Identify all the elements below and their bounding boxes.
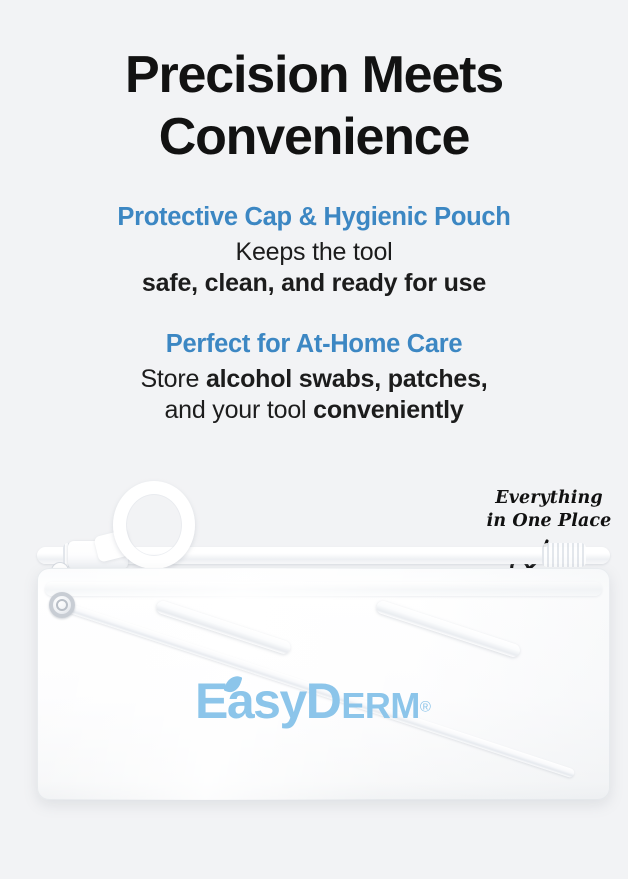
headline-line-2: Convenience bbox=[0, 106, 628, 168]
feature-body: Store alcohol swabs, patches, and your t… bbox=[0, 364, 628, 426]
callout-line-2: in One Place bbox=[474, 510, 624, 533]
feature-block-protective-cap: Protective Cap & Hygienic Pouch Keeps th… bbox=[0, 200, 628, 299]
callout-line-1: Everything bbox=[474, 487, 624, 510]
feature-body-bold-text: alcohol swabs, patches, bbox=[206, 365, 488, 393]
feature-body-light-text: and your tool bbox=[164, 396, 313, 424]
feature-title: Protective Cap & Hygienic Pouch bbox=[0, 200, 628, 234]
brand-logo-derm: DERM bbox=[306, 673, 420, 729]
feature-body-bold-text: conveniently bbox=[313, 396, 463, 424]
callout-label: Everything in One Place bbox=[474, 487, 624, 533]
pouch-fold-line bbox=[45, 582, 602, 596]
brand-logo-derm-cap: D bbox=[306, 673, 342, 729]
product-photo: Everything in One Place bbox=[0, 455, 628, 879]
infographic-page: Precision Meets Convenience Protective C… bbox=[0, 0, 628, 879]
feature-body-line-1: Store alcohol swabs, patches, bbox=[0, 364, 628, 395]
feature-body-line-2: safe, clean, and ready for use bbox=[0, 268, 628, 299]
feature-body-bold-text: safe, clean, and ready for use bbox=[142, 269, 486, 297]
feature-title: Perfect for At-Home Care bbox=[0, 327, 628, 361]
feature-body-line-1: Keeps the tool bbox=[0, 237, 628, 268]
zipper-pull-ring bbox=[113, 481, 195, 569]
feature-body: Keeps the tool safe, clean, and ready fo… bbox=[0, 237, 628, 299]
zipper-rail-cap-right bbox=[542, 543, 586, 567]
brand-logo: EasyDERM® bbox=[195, 672, 431, 730]
registered-trademark-symbol: ® bbox=[420, 699, 431, 716]
feature-body-line-2: and your tool conveniently bbox=[0, 395, 628, 426]
feature-block-at-home-care: Perfect for At-Home Care Store alcohol s… bbox=[0, 327, 628, 426]
brand-logo-easy: Easy bbox=[195, 673, 306, 729]
feature-body-light-text: Keeps the tool bbox=[235, 238, 392, 266]
headline-line-1: Precision Meets bbox=[0, 44, 628, 106]
brand-logo-derm-rest: ERM bbox=[341, 685, 420, 726]
page-title: Precision Meets Convenience bbox=[0, 44, 628, 168]
feature-list: Protective Cap & Hygienic Pouch Keeps th… bbox=[0, 200, 628, 426]
feature-body-light-text: Store bbox=[140, 365, 206, 393]
